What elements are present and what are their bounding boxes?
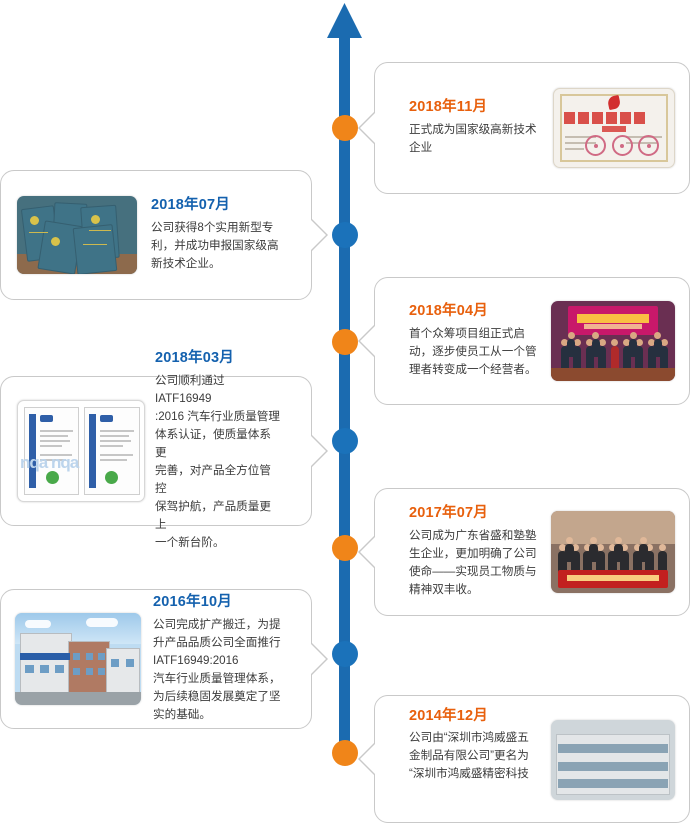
card-date: 2014年12月 [409,708,551,725]
card-text-block: 2017年07月 公司成为广东省盛和塾塾 生企业，更加明确了公司 使命——实现员… [409,505,551,598]
timeline-dot-2017-07[interactable] [332,535,358,561]
card-text-block: 2018年03月 公司顺利通过IATF16949 :2016 汽车行业质量管理 … [155,350,281,551]
card-notch-fill-icon [360,326,375,356]
milestone-card-2018-04[interactable]: 2018年04月 首个众筹项目组正式启 动，逐步使员工从一个管 理者转变成一个经… [374,277,690,405]
card-text-block: 2016年10月 公司完成扩产搬迁，为提 升产品品质公司全面推行 IATF169… [153,594,281,723]
iatf16949-certificates-photo: nqa nqa [17,400,145,502]
card-notch-fill-icon [360,113,375,143]
plant-exterior-photo [551,720,675,800]
card-date: 2016年10月 [153,594,281,611]
timeline-dot-2018-11[interactable] [332,115,358,141]
high-tech-enterprise-certificate-photo [553,88,675,168]
milestone-card-2018-07[interactable]: 2018年07月 公司获得8个实用新型专 利，并成功申报国家级高 新技术企业。 [0,170,312,300]
card-notch-fill-icon [360,744,375,774]
timeline-dot-2018-03[interactable] [332,428,358,454]
card-body: 公司顺利通过IATF16949 :2016 汽车行业质量管理 体系认证，使质量体… [155,372,281,552]
card-notch-fill-icon [360,537,375,567]
utility-model-patents-photo [17,196,137,274]
timeline-dot-2018-07[interactable] [332,222,358,248]
card-body: 公司完成扩产搬迁，为提 升产品品质公司全面推行 IATF16949:2016 [153,616,281,670]
timeline-dot-2014-12[interactable] [332,740,358,766]
card-body: 首个众筹项目组正式启 动，逐步使员工从一个管 理者转变成一个经营者。 [409,325,551,379]
card-body: 正式成为国家级高新技术 企业 [409,121,553,157]
new-factory-building-photo [15,613,141,705]
timeline-dot-2018-04[interactable] [332,329,358,355]
card-body: 公司由“深圳市鸿威盛五 金制品有限公司”更名为 “深圳市鸿威盛精密科技 [409,729,551,783]
card-body: 公司成为广东省盛和塾塾 生企业，更加明确了公司 使命——实现员工物质与 精神双丰… [409,527,551,599]
card-notch-fill-icon [311,436,326,466]
card-date: 2018年04月 [409,303,551,320]
card-text-block: 2018年07月 公司获得8个实用新型专 利，并成功申报国家级高 新技术企业。 [151,197,281,272]
card-date: 2018年11月 [409,99,553,116]
card-date: 2017年07月 [409,505,551,522]
timeline-dot-2016-10[interactable] [332,641,358,667]
card-text-block: 2018年11月 正式成为国家级高新技术 企业 [409,99,553,156]
milestone-card-2018-03[interactable]: nqa nqa 2018年03月 公司顺利通过IATF16949 :2016 汽… [0,376,312,526]
timeline-arrow-head [327,3,362,38]
milestone-card-2018-11[interactable]: 2018年11月 正式成为国家级高新技术 企业 [374,62,690,194]
milestone-card-2014-12[interactable]: 2014年12月 公司由“深圳市鸿威盛五 金制品有限公司”更名为 “深圳市鸿威盛… [374,695,690,823]
card-date: 2018年03月 [155,350,281,367]
card-body-secondary: 汽车行业质量管理体系， 为后续稳固发展奠定了坚 实的基础。 [153,670,281,724]
milestone-card-2017-07[interactable]: 2017年07月 公司成为广东省盛和塾塾 生企业，更加明确了公司 使命——实现员… [374,488,690,616]
card-notch-fill-icon [311,220,326,250]
milestone-card-2016-10[interactable]: 2016年10月 公司完成扩产搬迁，为提 升产品品质公司全面推行 IATF169… [0,589,312,729]
card-notch-fill-icon [311,644,326,674]
shenghe-academy-group-photo [551,511,675,593]
card-text-block: 2018年04月 首个众筹项目组正式启 动，逐步使员工从一个管 理者转变成一个经… [409,303,551,378]
card-text-block: 2014年12月 公司由“深圳市鸿威盛五 金制品有限公司”更名为 “深圳市鸿威盛… [409,708,551,783]
card-body: 公司获得8个实用新型专 利，并成功申报国家级高 新技术企业。 [151,219,281,273]
crowdfunding-kickoff-meeting-photo [551,301,675,381]
card-date: 2018年07月 [151,197,281,214]
